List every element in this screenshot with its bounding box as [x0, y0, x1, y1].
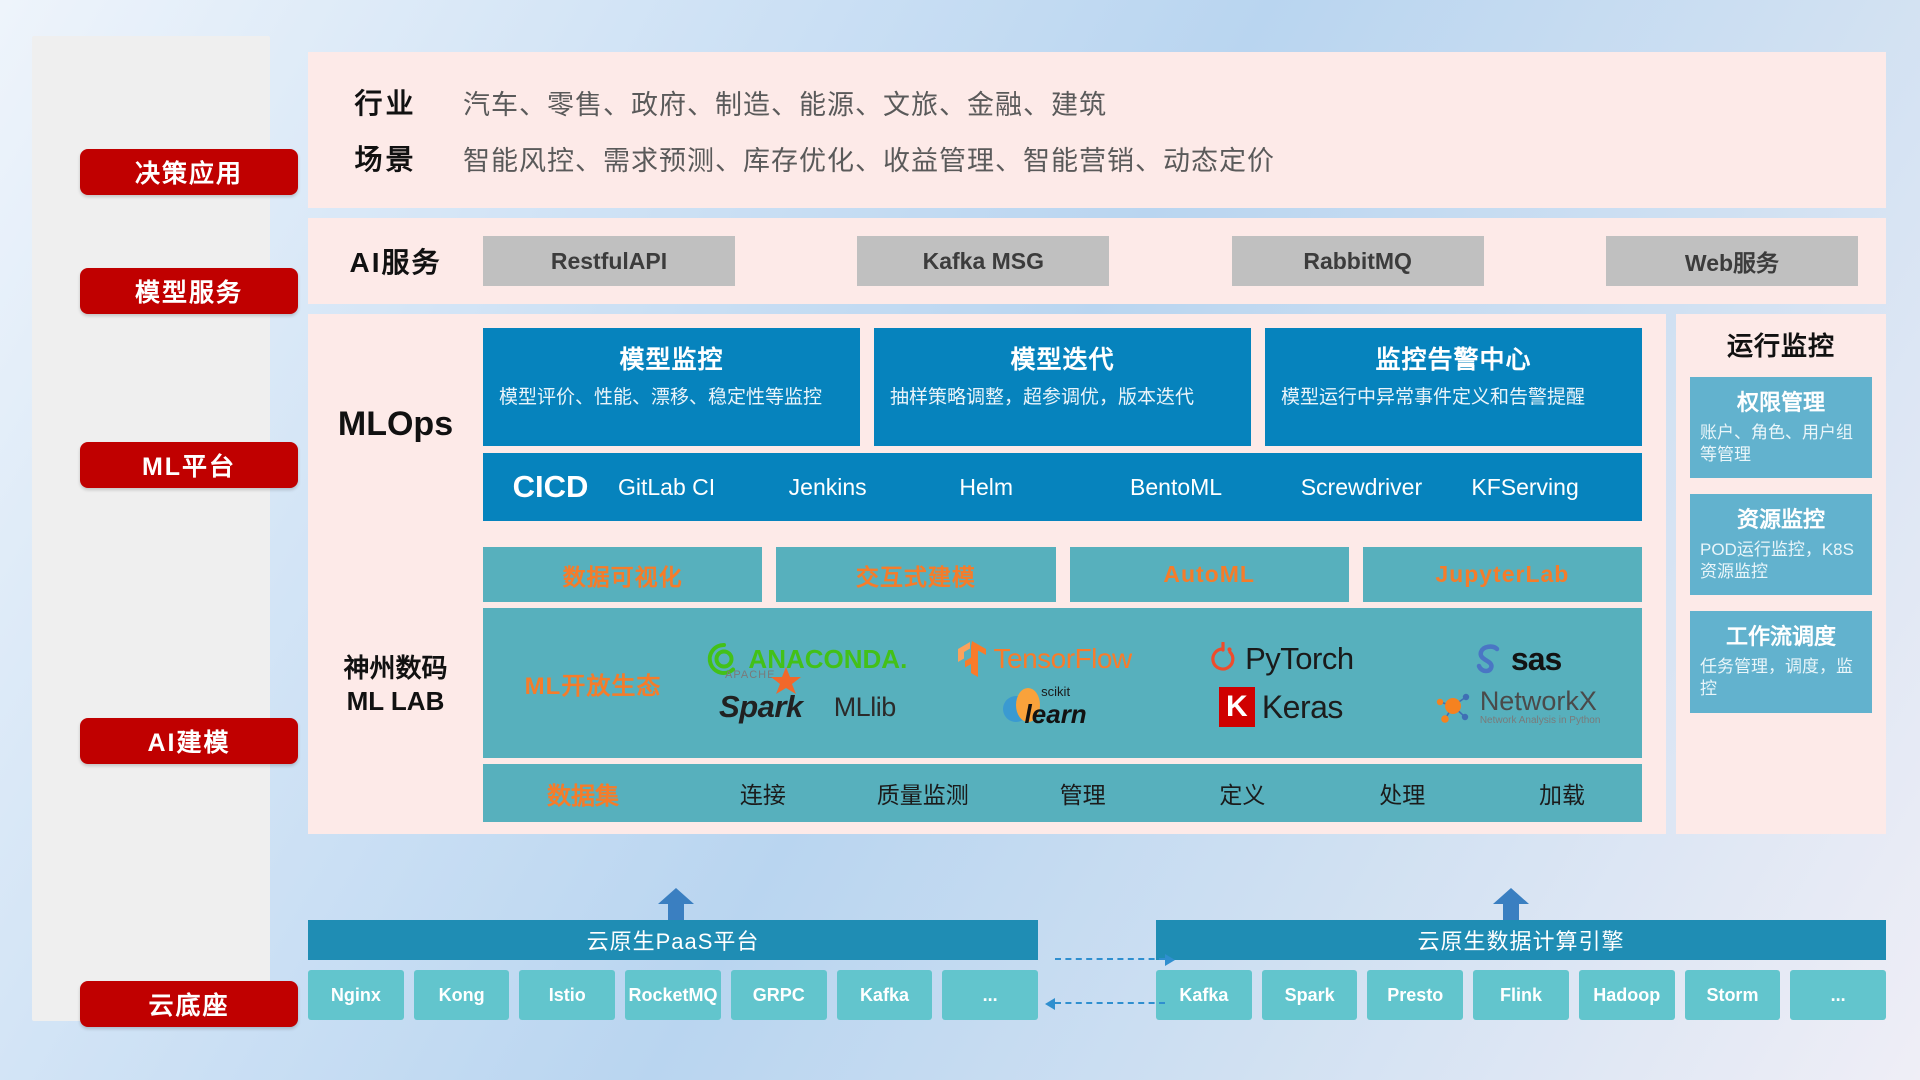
- dataset-item-quality-monitor[interactable]: 质量监测: [843, 776, 1003, 810]
- arrow-up-icon-left: [658, 888, 694, 920]
- mlops-cards: 模型监控 模型评价、性能、漂移、稳定性等监控 模型迭代 抽样策略调整，超参调优，…: [483, 328, 1642, 446]
- layer-tag-ai-modeling[interactable]: AI建模: [80, 718, 298, 764]
- data-engine-pane: 云原生数据计算引擎 Kafka Spark Presto Flink Hadoo…: [1156, 920, 1886, 1020]
- engine-chip-kafka[interactable]: Kafka: [1156, 970, 1252, 1020]
- runtime-monitoring-title: 运行监控: [1690, 326, 1872, 363]
- paas-chip-istio[interactable]: Istio: [519, 970, 615, 1020]
- arrow-right-icon: [1165, 954, 1175, 966]
- spark-apache-text: APACHE: [725, 669, 775, 681]
- runtime-monitoring-panel: 运行监控 权限管理 账户、角色、用户组等管理 资源监控 POD运行监控，K8S资…: [1676, 314, 1886, 834]
- cicd-item-jenkins[interactable]: Jenkins: [789, 474, 960, 500]
- tool-data-visualization[interactable]: 数据可视化: [483, 547, 762, 602]
- connector-right-arrow: [1055, 958, 1165, 960]
- paas-chip-grpc[interactable]: GRPC: [731, 970, 827, 1020]
- cicd-items: GitLab CI Jenkins Helm BentoML Screwdriv…: [618, 474, 1642, 500]
- industry-row: 行业 汽车、零售、政府、制造、能源、文旅、金融、建筑: [308, 74, 1886, 130]
- paas-title: 云原生PaaS平台: [308, 920, 1038, 960]
- layer-rail: 决策应用 模型服务 ML平台 AI建模: [32, 36, 270, 1021]
- data-engine-chips: Kafka Spark Presto Flink Hadoop Storm ..…: [1156, 970, 1886, 1020]
- architecture-diagram: 决策应用 模型服务 ML平台 AI建模 云底座 行业 汽车、零售、政府、制造、能…: [0, 0, 1920, 1080]
- data-engine-title: 云原生数据计算引擎: [1156, 920, 1886, 960]
- cicd-item-helm[interactable]: Helm: [959, 474, 1130, 500]
- ai-service-chip-rabbitmq[interactable]: RabbitMQ: [1232, 236, 1484, 286]
- ml-ecosystem-label: ML开放生态: [493, 666, 693, 701]
- monitor-card-title: 权限管理: [1700, 385, 1862, 417]
- keras-k-icon: K: [1219, 687, 1255, 727]
- networkx-logo: NetworkX Network Analysis in Python: [1435, 688, 1601, 726]
- engine-chip-spark[interactable]: Spark: [1262, 970, 1358, 1020]
- tensorflow-wordmark: TensorFlow: [994, 643, 1132, 675]
- spark-star-icon: [771, 667, 801, 695]
- cicd-title: CICD: [483, 469, 618, 505]
- platform-and-monitoring: MLOps 模型监控 模型评价、性能、漂移、稳定性等监控 模型迭代 抽样策略调整…: [308, 314, 1886, 834]
- dataset-item-manage[interactable]: 管理: [1003, 776, 1163, 810]
- arrow-up-icon-right: [1493, 888, 1529, 920]
- ml-ecosystem: ML开放生态 ANACONDA.: [483, 608, 1642, 758]
- scenario-row: 场景 智能风控、需求预测、库存优化、收益管理、智能营销、动态定价: [308, 130, 1886, 186]
- dataset-items: 连接 质量监测 管理 定义 处理 加载: [683, 776, 1642, 810]
- ai-service-chip-kafka-msg[interactable]: Kafka MSG: [857, 236, 1109, 286]
- engine-chip-more[interactable]: ...: [1790, 970, 1886, 1020]
- ml-lab-label: 神州数码 ML LAB: [308, 652, 483, 717]
- dataset-item-load[interactable]: 加载: [1482, 776, 1642, 810]
- tensorflow-icon: [957, 640, 987, 678]
- paas-chip-nginx[interactable]: Nginx: [308, 970, 404, 1020]
- paas-chips: Nginx Kong Istio RocketMQ GRPC Kafka ...: [308, 970, 1038, 1020]
- ai-service-items: RestfulAPI Kafka MSG RabbitMQ Web服务: [483, 236, 1886, 286]
- ai-service-band: AI服务 RestfulAPI Kafka MSG RabbitMQ Web服务: [308, 218, 1886, 304]
- cicd-item-gitlab-ci[interactable]: GitLab CI: [618, 474, 789, 500]
- cicd-item-bentoml[interactable]: BentoML: [1130, 474, 1301, 500]
- monitor-card-title: 资源监控: [1700, 502, 1862, 534]
- mlops-band: MLOps 模型监控 模型评价、性能、漂移、稳定性等监控 模型迭代 抽样策略调整…: [308, 314, 1666, 535]
- mlops-card-title: 监控告警中心: [1281, 340, 1626, 376]
- mlops-label: MLOps: [308, 405, 483, 444]
- dataset-item-define[interactable]: 定义: [1162, 776, 1322, 810]
- layer-tag-model-service[interactable]: 模型服务: [80, 268, 298, 314]
- keras-logo: K Keras: [1219, 687, 1343, 727]
- scikit-text: scikit: [1041, 684, 1070, 699]
- scenario-label: 场景: [308, 138, 463, 178]
- ai-service-chip-web-service[interactable]: Web服务: [1606, 236, 1858, 286]
- cicd-bar: CICD GitLab CI Jenkins Helm BentoML Scre…: [483, 453, 1642, 521]
- paas-chip-rocketmq[interactable]: RocketMQ: [625, 970, 721, 1020]
- layer-tag-cloud-base[interactable]: 云底座: [80, 981, 298, 1027]
- pytorch-wordmark: PyTorch: [1245, 641, 1353, 677]
- cicd-item-kfserving[interactable]: KFServing: [1471, 474, 1642, 500]
- ai-modeling-body: 数据可视化 交互式建模 AutoML JupyterLab ML开放生态: [483, 547, 1642, 822]
- paas-pane: 云原生PaaS平台 Nginx Kong Istio RocketMQ GRPC…: [308, 920, 1038, 1020]
- keras-wordmark: Keras: [1262, 689, 1343, 726]
- tool-interactive-modeling[interactable]: 交互式建模: [776, 547, 1055, 602]
- networkx-tagline: Network Analysis in Python: [1480, 715, 1601, 726]
- paas-chip-kong[interactable]: Kong: [414, 970, 510, 1020]
- paas-chip-more[interactable]: ...: [942, 970, 1038, 1020]
- tool-jupyterlab[interactable]: JupyterLab: [1363, 547, 1642, 602]
- connector-left-arrow: [1055, 1002, 1165, 1004]
- ml-lab-label-line2: ML LAB: [308, 685, 483, 718]
- mlops-card-model-monitoring[interactable]: 模型监控 模型评价、性能、漂移、稳定性等监控: [483, 328, 860, 446]
- scenario-value: 智能风控、需求预测、库存优化、收益管理、智能营销、动态定价: [463, 139, 1275, 178]
- modeling-tools: 数据可视化 交互式建模 AutoML JupyterLab: [483, 547, 1642, 602]
- monitor-card-desc: 任务管理，调度，监控: [1700, 656, 1862, 700]
- industry-value: 汽车、零售、政府、制造、能源、文旅、金融、建筑: [463, 83, 1107, 122]
- pytorch-logo: PyTorch: [1208, 641, 1353, 677]
- monitor-card-resource[interactable]: 资源监控 POD运行监控，K8S资源监控: [1690, 494, 1872, 595]
- dataset-item-connect[interactable]: 连接: [683, 776, 843, 810]
- learn-text: learn: [1025, 699, 1087, 730]
- arrow-left-icon: [1045, 998, 1055, 1010]
- monitor-card-title: 工作流调度: [1700, 619, 1862, 651]
- sas-wordmark: sas: [1511, 641, 1561, 678]
- scikit-learn-logo: scikit learn: [1002, 684, 1087, 730]
- engine-chip-presto[interactable]: Presto: [1367, 970, 1463, 1020]
- sas-icon: [1474, 643, 1504, 675]
- monitor-card-workflow[interactable]: 工作流调度 任务管理，调度，监控: [1690, 611, 1872, 712]
- ai-service-chip-restfulapi[interactable]: RestfulAPI: [483, 236, 735, 286]
- monitor-card-permission[interactable]: 权限管理 账户、角色、用户组等管理: [1690, 377, 1872, 478]
- main-column: 行业 汽车、零售、政府、制造、能源、文旅、金融、建筑 场景 智能风控、需求预测、…: [308, 52, 1886, 844]
- industry-label: 行业: [308, 82, 463, 122]
- mlops-card-title: 模型监控: [499, 340, 844, 376]
- ml-ecosystem-logos: ANACONDA. TensorFlow: [693, 636, 1632, 730]
- dataset-bar: 数据集 连接 质量监测 管理 定义 处理 加载: [483, 764, 1642, 822]
- cicd-item-screwdriver[interactable]: Screwdriver: [1301, 474, 1472, 500]
- mlops-card-desc: 模型运行中异常事件定义和告警提醒: [1281, 385, 1626, 411]
- ml-lab-label-line1: 神州数码: [308, 652, 483, 685]
- layer-tag-decision-app[interactable]: 决策应用: [80, 149, 298, 195]
- mlops-body: 模型监控 模型评价、性能、漂移、稳定性等监控 模型迭代 抽样策略调整，超参调优，…: [483, 328, 1642, 521]
- mlops-card-desc: 抽样策略调整，超参调优，版本迭代: [890, 385, 1235, 411]
- networkx-icon: [1435, 689, 1473, 725]
- sas-logo: sas: [1474, 641, 1561, 678]
- pane-connectors: [1055, 940, 1165, 1020]
- engine-chip-hadoop[interactable]: Hadoop: [1579, 970, 1675, 1020]
- paas-chip-kafka[interactable]: Kafka: [837, 970, 933, 1020]
- mlops-card-desc: 模型评价、性能、漂移、稳定性等监控: [499, 385, 844, 411]
- monitor-card-desc: 账户、角色、用户组等管理: [1700, 422, 1862, 466]
- tool-automl[interactable]: AutoML: [1070, 547, 1349, 602]
- networkx-wordmark: NetworkX: [1480, 688, 1601, 715]
- spark-mllib-logo: APACHE Spark MLlib: [719, 689, 896, 725]
- monitor-card-desc: POD运行监控，K8S资源监控: [1700, 539, 1862, 583]
- mllib-wordmark: MLlib: [834, 692, 896, 723]
- decision-app-band: 行业 汽车、零售、政府、制造、能源、文旅、金融、建筑 场景 智能风控、需求预测、…: [308, 52, 1886, 208]
- engine-chip-flink[interactable]: Flink: [1473, 970, 1569, 1020]
- ai-modeling-band: 神州数码 ML LAB 数据可视化 交互式建模 AutoML JupyterLa…: [308, 535, 1666, 834]
- ai-service-label: AI服务: [308, 241, 483, 281]
- layer-tag-ml-platform[interactable]: ML平台: [80, 442, 298, 488]
- tensorflow-logo: TensorFlow: [957, 640, 1132, 678]
- mlops-card-title: 模型迭代: [890, 340, 1235, 376]
- dataset-item-process[interactable]: 处理: [1322, 776, 1482, 810]
- mlops-card-alert-center[interactable]: 监控告警中心 模型运行中异常事件定义和告警提醒: [1265, 328, 1642, 446]
- upward-arrows: [308, 888, 1886, 920]
- dataset-label: 数据集: [483, 776, 683, 811]
- pytorch-icon: [1208, 642, 1238, 676]
- mlops-card-model-iteration[interactable]: 模型迭代 抽样策略调整，超参调优，版本迭代: [874, 328, 1251, 446]
- engine-chip-storm[interactable]: Storm: [1685, 970, 1781, 1020]
